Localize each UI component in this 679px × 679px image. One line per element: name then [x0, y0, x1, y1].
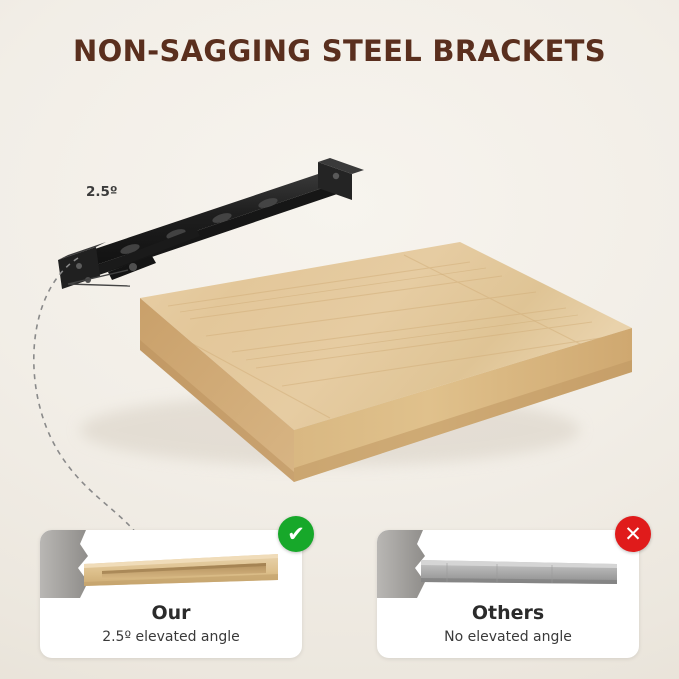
product-infographic: NON-SAGGING STEEL BRACKETS [0, 0, 679, 679]
page-title: NON-SAGGING STEEL BRACKETS [0, 34, 679, 68]
comparison-card-others: ✕ Others No elevated angle [377, 530, 639, 658]
shelf-illustration [0, 100, 679, 510]
cross-badge: ✕ [615, 516, 651, 552]
angle-label: 2.5º [86, 184, 118, 200]
comparison-card-our: ✔ Our 2.5º elevated angle [40, 530, 302, 658]
card-image-our [40, 530, 302, 598]
card-image-others [377, 530, 639, 598]
card-subtitle-others: No elevated angle [377, 629, 639, 645]
card-subtitle-our: 2.5º elevated angle [40, 629, 302, 645]
card-title-others: Others [377, 602, 639, 624]
others-bracket-diagram [377, 530, 639, 598]
our-bracket-diagram [40, 530, 302, 598]
check-badge: ✔ [278, 516, 314, 552]
card-title-our: Our [40, 602, 302, 624]
